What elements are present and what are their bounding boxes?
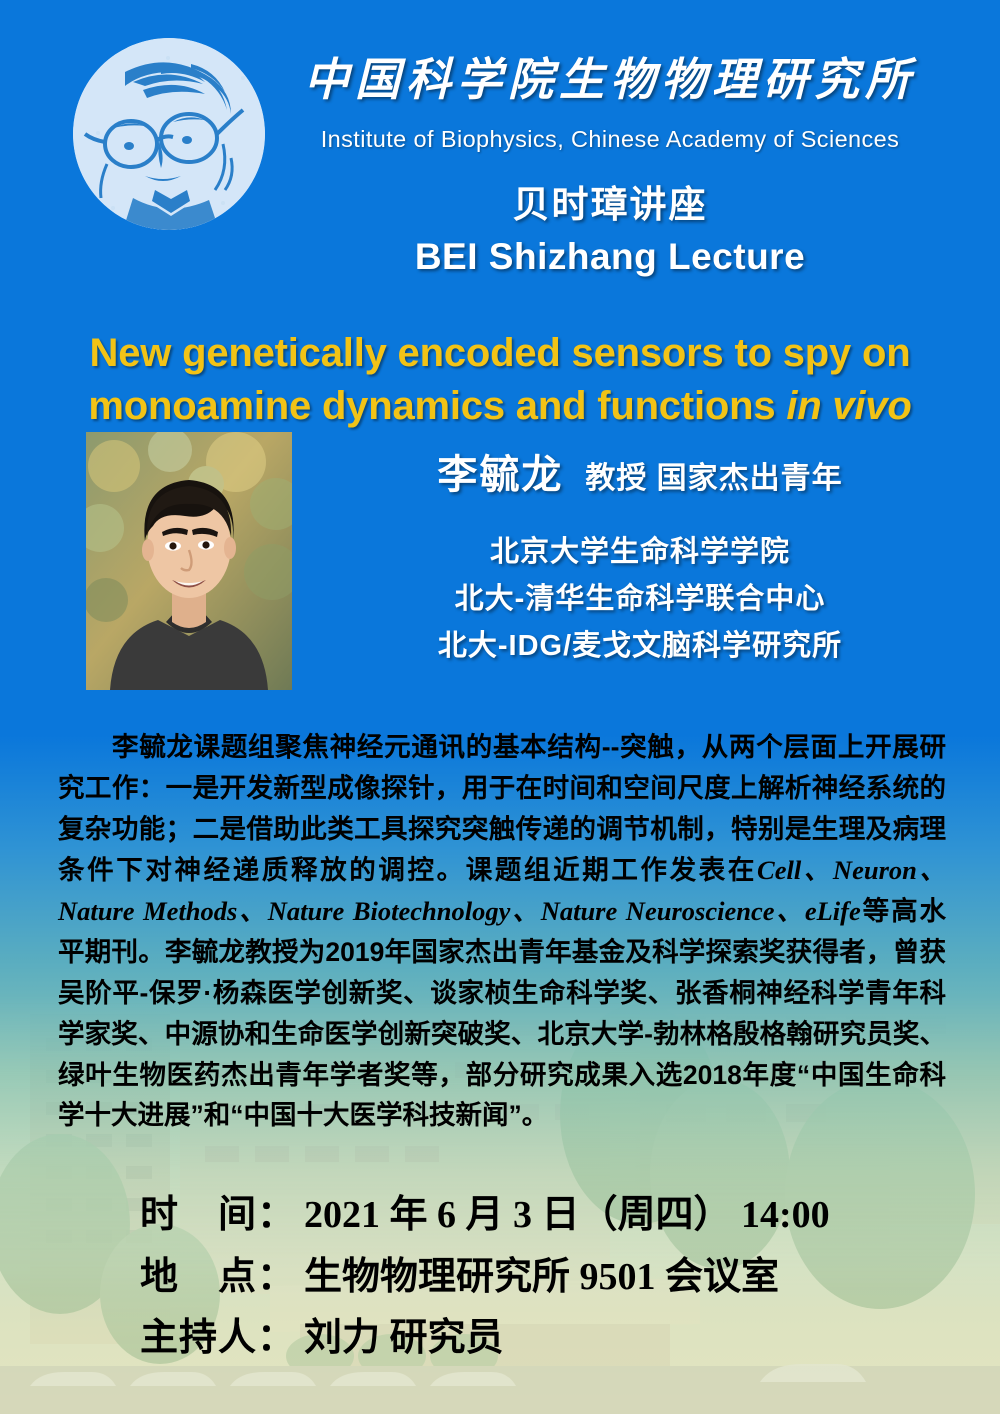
abstract-text: 李毓龙课题组聚焦神经元通讯的基本结构--突触，从两个层面上开展研究工作：一是开发… (58, 727, 946, 1136)
lecture-series-name-en: BEI Shizhang Lecture (300, 236, 920, 279)
speaker-affiliation-1: 北京大学生命科学学院 (320, 529, 960, 576)
event-host-value: 刘力 研究员 (304, 1317, 504, 1359)
talk-title-italic: in vivo (786, 384, 911, 428)
speaker-info: 李毓龙教授 国家杰出青年 北京大学生命科学学院 北大-清华生命科学联合中心 北大… (320, 455, 960, 670)
abstract-part-2: 等高水平期刊。李毓龙教授为2019年国家杰出青年基金及科学探索奖获得者，曾获吴阶… (58, 896, 946, 1131)
speaker-name: 李毓龙 (437, 453, 563, 497)
poster-header: 中国科学院生物物理研究所 Institute of Biophysics, Ch… (0, 24, 1000, 254)
event-time-label: 时 间： (140, 1194, 296, 1236)
talk-title: New genetically encoded sensors to spy o… (46, 327, 954, 433)
speaker-name-row: 李毓龙教授 国家杰出青年 (320, 455, 960, 495)
event-time-value: 2021 年 6 月 3 日（周四） 14:00 (304, 1194, 830, 1236)
event-host-label: 主持人： (140, 1317, 296, 1359)
institute-name-en: Institute of Biophysics, Chinese Academy… (300, 128, 920, 152)
event-location-value: 生物物理研究所 9501 会议室 (304, 1256, 779, 1298)
event-location-label: 地 点： (140, 1256, 296, 1298)
event-detail-location: 地 点：生物物理研究所 9501 会议室 (140, 1247, 960, 1309)
lecture-series-name-cn: 贝时璋讲座 (300, 184, 920, 227)
event-detail-time: 时 间：2021 年 6 月 3 日（周四） 14:00 (140, 1185, 960, 1247)
institute-name-cn: 中国科学院生物物理研究所 (300, 58, 920, 103)
lecture-poster: 中国科学院生物物理研究所 Institute of Biophysics, Ch… (0, 0, 1000, 1414)
speaker-affiliation-2: 北大-清华生命科学联合中心 (320, 576, 960, 623)
event-details: 时 间：2021 年 6 月 3 日（周四） 14:00 地 点：生物物理研究所… (140, 1185, 960, 1370)
speaker-titles: 教授 国家杰出青年 (585, 462, 842, 495)
bei-shizhang-portrait-logo-icon (73, 38, 265, 230)
speaker-affiliation-3: 北大-IDG/麦戈文脑科学研究所 (320, 623, 960, 670)
speaker-portrait-photo (86, 432, 292, 690)
event-detail-host: 主持人：刘力 研究员 (140, 1308, 960, 1370)
